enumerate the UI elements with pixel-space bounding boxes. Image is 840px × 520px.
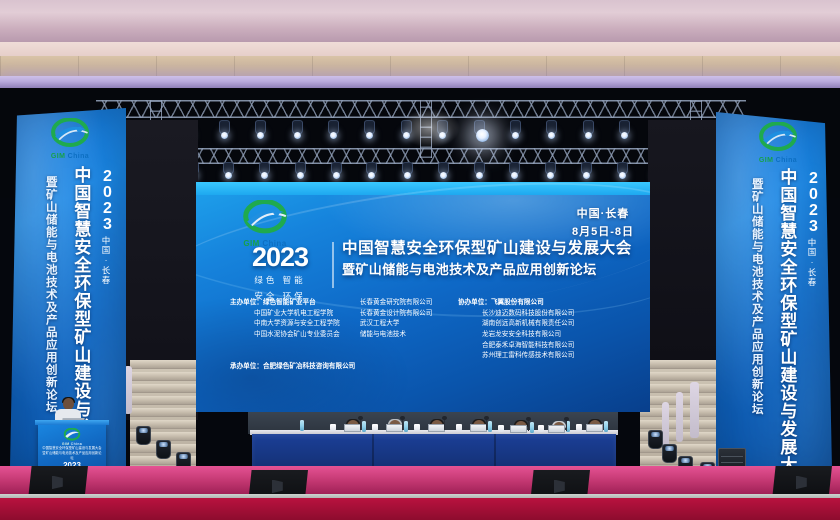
stage-lamp [585, 132, 592, 139]
truss-post-center [420, 100, 432, 158]
gim-logo-banner-right: GIM China [752, 122, 804, 164]
stage-lamp [403, 132, 410, 139]
tea-cup [538, 425, 544, 432]
gim-logo-mark-icon [58, 428, 86, 441]
stage-lamp [512, 132, 519, 139]
desk-microphone [360, 418, 361, 430]
tea-cup [372, 424, 378, 431]
host-col-1: 主办单位：绿色智能矿业平台 中国矿业大学机电工程学院 中南大学资源与安全工程学院… [230, 298, 348, 341]
gim-logo-main: GIM China [234, 200, 296, 248]
side-banner-right: GIM China 2023 中国·长春 中国智慧安全环保型矿山建设与发展大会 … [716, 112, 832, 482]
ceiling-lip [0, 42, 840, 56]
co-organizer-label: 协办单位：飞翼股份有限公司 [458, 298, 638, 309]
water-bottle [530, 422, 534, 433]
gim-logo-podium: GIM China [58, 428, 86, 446]
co-organizer-item: 长沙迪迈数码科技股份有限公司 [458, 309, 638, 320]
ceiling-sign-blur-right [745, 78, 815, 87]
host-item: 武汉工程大学 [360, 319, 470, 330]
banner-left-title-sub: 暨矿山储能与电池技术及产品应用创新论坛 [44, 176, 56, 414]
name-plate [470, 424, 487, 432]
tea-cup [414, 424, 420, 431]
stage-lamp [261, 172, 268, 179]
host-item: 储能与电池技术 [360, 330, 470, 341]
moving-head-light [648, 430, 663, 449]
event-location: 中国·长春 [572, 206, 634, 224]
stage-lamp [440, 172, 447, 179]
host-item: 中国矿业大学机电工程学院 [230, 309, 348, 320]
gim-logo-banner-left: GIM China [44, 118, 96, 160]
stage-lamp [476, 129, 489, 142]
event-year-block: 2023 绿色 智能 安全 环保 [234, 244, 326, 303]
host-item: 中南大学资源与安全工程学院 [230, 319, 348, 330]
baluster-right-b [676, 392, 683, 442]
co-organizers-group: 协办单位：飞翼股份有限公司 长沙迪迈数码科技股份有限公司 湖南创远高新机械有限责… [458, 298, 638, 362]
stage-lamp [294, 132, 301, 139]
podium-title-lines: 中国智慧安全环保型矿山建设与发展大会 暨矿山储能与电池技术及产品应用创新论坛 [41, 446, 103, 460]
event-slogan-1: 绿色 智能 [234, 274, 326, 287]
name-plate [548, 425, 565, 433]
name-plate [428, 424, 445, 432]
stage-lamp [621, 132, 628, 139]
moving-head-light [156, 440, 171, 459]
water-bottle [604, 421, 608, 432]
name-plate [344, 424, 361, 432]
water-bottle [488, 421, 492, 432]
co-organizer-item: 苏州理工雷科传感技术有限公司 [458, 351, 638, 362]
stage-photograph: GIM China 2023 中国·长春 中国智慧安全环保型矿山建设与发展大会 … [0, 0, 840, 520]
name-plate [386, 424, 403, 432]
desk-microphone [402, 418, 403, 430]
stage-lamp [619, 172, 626, 179]
undertaker-row: 承办单位：合肥绿色矿冶科技咨询有限公司 [230, 360, 355, 370]
event-location-date: 中国·长春 8月5日-8日 [572, 206, 634, 241]
tea-cup [330, 424, 336, 431]
host-label: 主办单位：绿色智能矿业平台 [230, 298, 348, 309]
main-led-screen: GIM China 中国·长春 8月5日-8日 2023 绿色 智能 安全 环保… [196, 182, 650, 412]
tea-cup [456, 424, 462, 431]
host-item: 长春黄金设计院有限公司 [360, 309, 470, 320]
desk-microphone [444, 418, 445, 430]
co-organizer-item: 湖南创远高新机械有限责任公司 [458, 319, 638, 330]
gim-logo-mark-icon [752, 122, 804, 153]
gim-logo-text: GIM China [752, 157, 804, 164]
banner-left-year: 2023 [98, 168, 116, 232]
co-organizer-item: 合肥泰禾卓海智能科技有限公司 [458, 341, 638, 352]
gim-logo-mark-icon [44, 118, 96, 149]
name-plate [586, 424, 603, 432]
title-divider [332, 242, 334, 288]
banner-left-location: 中国·长春 [100, 236, 112, 285]
stage-lamp [221, 132, 228, 139]
event-title-block: 中国智慧安全环保型矿山建设与发展大会 暨矿山储能与电池技术及产品应用创新论坛 [342, 239, 642, 279]
desk-microphone [566, 419, 567, 431]
moving-head-light [136, 426, 151, 445]
moving-head-light [662, 444, 677, 463]
tea-cup [498, 425, 504, 432]
stage-lamp [583, 172, 590, 179]
baluster-right-c [662, 402, 669, 446]
tea-cup [576, 424, 582, 431]
water-bottle [300, 420, 304, 431]
water-bottle [362, 421, 366, 432]
banner-right-year: 2023 [804, 170, 822, 234]
co-organizer-item: 龙岩龙安安全科技有限公司 [458, 330, 638, 341]
event-title-main: 中国智慧安全环保型矿山建设与发展大会 [342, 239, 642, 259]
ceiling-light-strip [0, 76, 840, 88]
ceiling-soffit [0, 0, 840, 42]
host-item: 长春黄金研究院有限公司 [360, 298, 470, 309]
water-bottle [404, 421, 408, 432]
gim-logo-text: GIM China [44, 153, 96, 160]
banner-right-title-sub: 暨矿山储能与电池技术及产品应用创新论坛 [750, 178, 762, 416]
banner-right-title-main: 中国智慧安全环保型矿山建设与发展大会 [778, 168, 795, 482]
gim-logo-mark-icon [234, 200, 296, 236]
baluster-right-a [690, 382, 699, 438]
podium-top-surface [35, 420, 109, 425]
event-title-sub: 暨矿山储能与电池技术及产品应用创新论坛 [342, 261, 642, 279]
ceiling-sign-blur [430, 78, 590, 87]
stage-lamp [297, 172, 304, 179]
podium-title-2: 暨矿山储能与电池技术及产品应用创新论坛 [41, 451, 103, 461]
name-plate [510, 425, 527, 433]
desk-microphone [528, 419, 529, 431]
red-carpet-foreground [0, 498, 840, 520]
event-year: 2023 [234, 244, 326, 271]
host-item: 中国水泥协会矿山专业委员会 [230, 330, 348, 341]
cornice-band [0, 56, 840, 76]
banner-right-location: 中国·长春 [806, 238, 818, 287]
host-col-2: 长春黄金研究院有限公司 长春黄金设计院有限公司 武汉工程大学 储能与电池技术 [350, 298, 470, 341]
stage-lamp [476, 172, 483, 179]
desk-microphone [486, 418, 487, 430]
stage-lamp [333, 172, 340, 179]
